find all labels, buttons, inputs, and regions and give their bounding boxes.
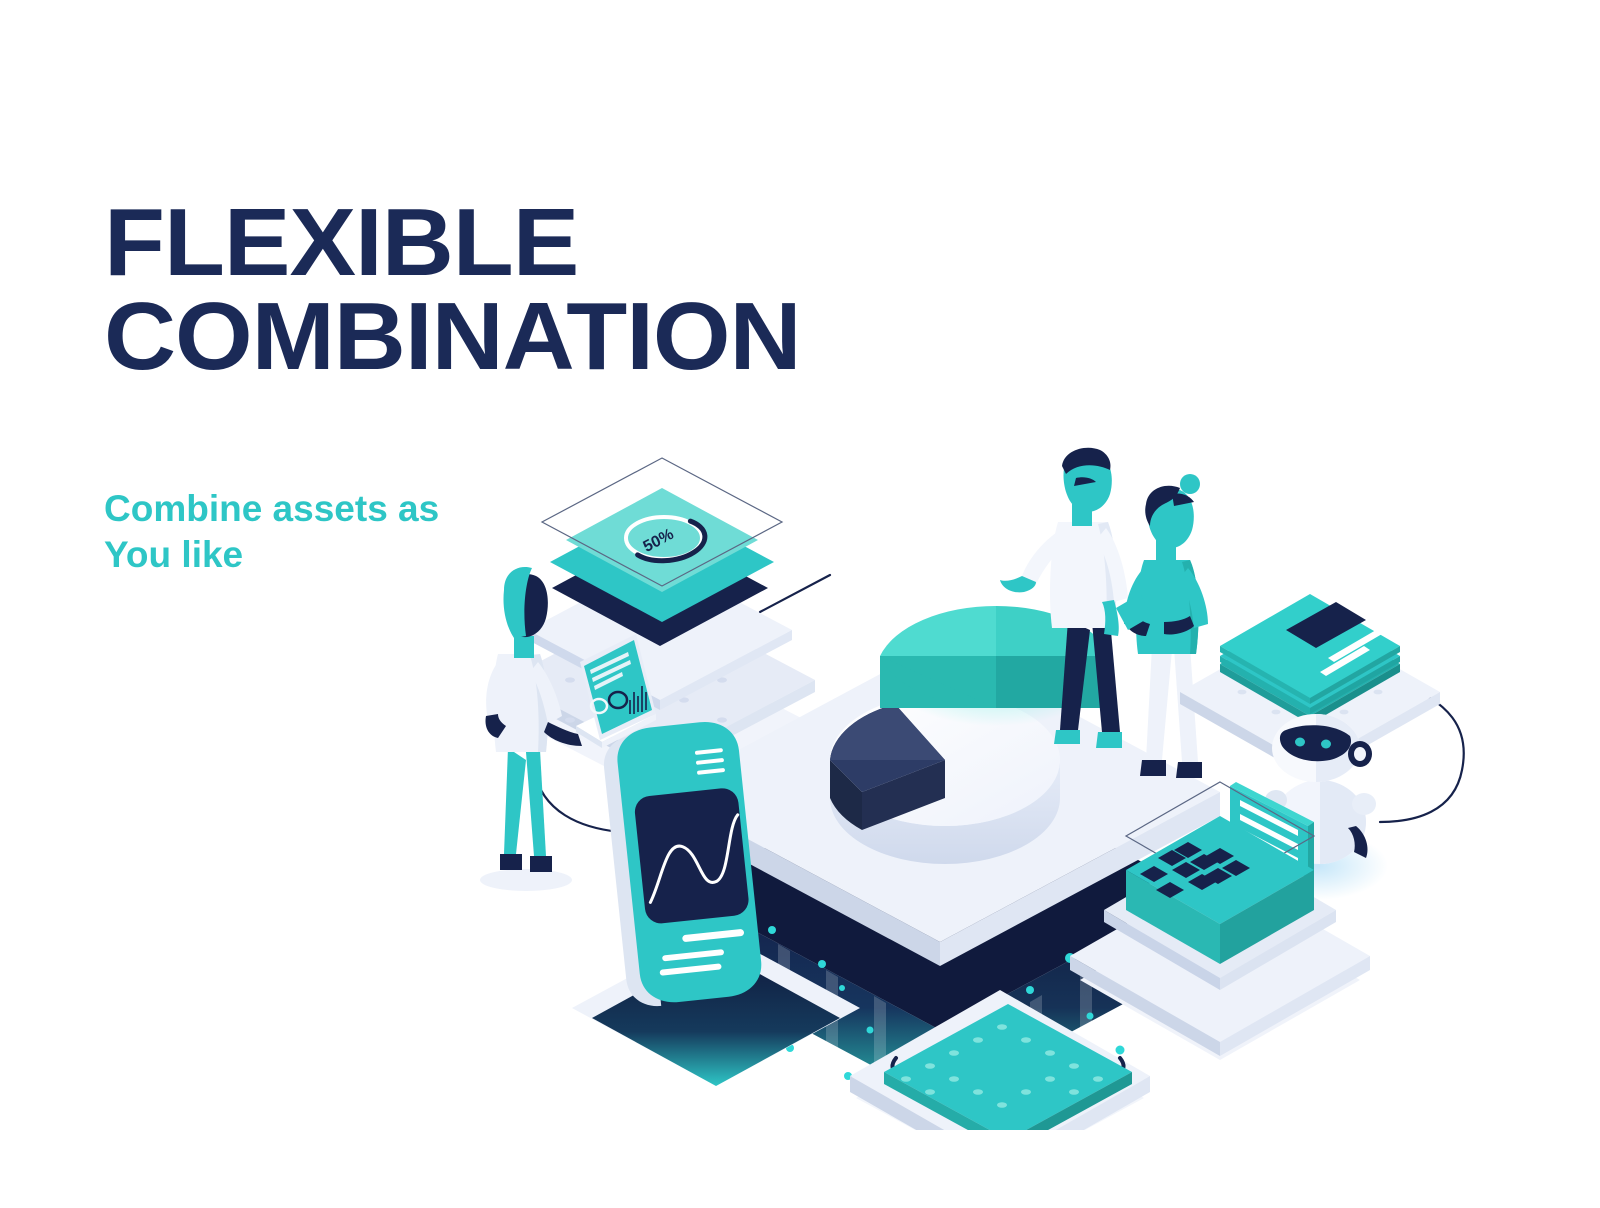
- smartphone: [600, 719, 764, 1010]
- page-title: FLEXIBLE COMBINATION: [104, 196, 978, 384]
- tablet-woman: [1116, 474, 1208, 778]
- headline-line-1: FLEXIBLE: [104, 189, 578, 296]
- headline-line-2: COMBINATION: [104, 290, 978, 384]
- isometric-scene: 50%: [430, 430, 1540, 1130]
- headline-block: FLEXIBLE COMBINATION: [104, 196, 944, 384]
- hamburger-icon: [695, 748, 725, 775]
- illustration-canvas: FLEXIBLE COMBINATION Combine assets as Y…: [0, 0, 1600, 1208]
